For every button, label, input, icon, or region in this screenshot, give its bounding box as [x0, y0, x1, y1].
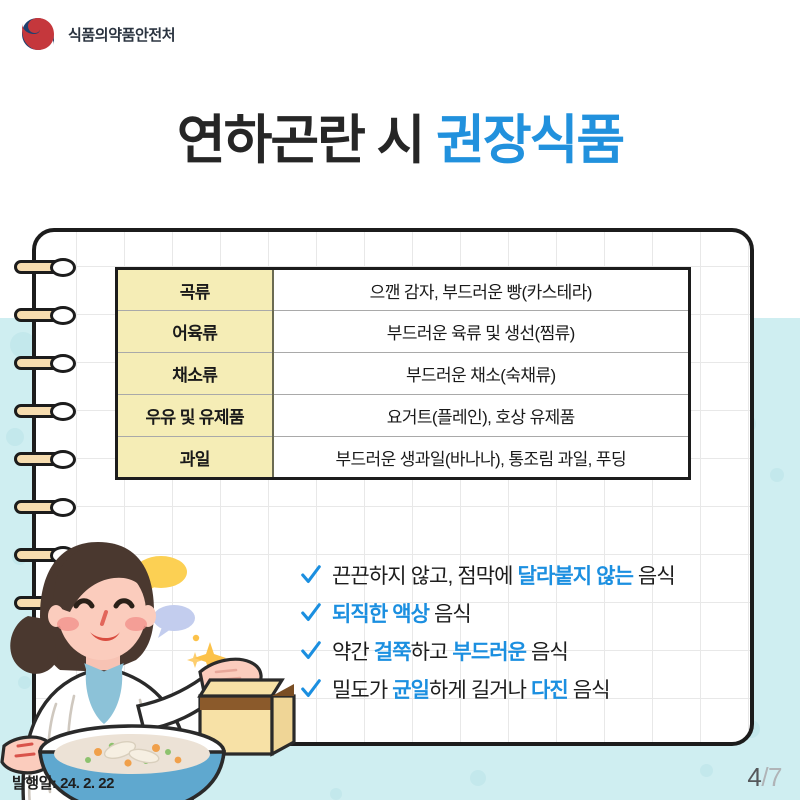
food-category-label: 어육류 [117, 311, 273, 353]
food-items-label: 으깬 감자, 부드러운 빵(카스테라) [273, 269, 690, 311]
check-icon [300, 602, 322, 624]
checklist-item-text: 끈끈하지 않고, 점막에 달라붙지 않는 음식 [332, 560, 675, 590]
agency-name-label: 식품의약품안전처 [68, 24, 175, 45]
table-row: 우유 및 유제품 요거트(플레인), 호상 유제품 [117, 395, 690, 437]
food-category-label: 곡류 [117, 269, 273, 311]
food-items-label: 부드러운 육류 및 생선(찜류) [273, 311, 690, 353]
checklist-item-text: 약간 걸쭉하고 부드러운 음식 [332, 636, 568, 666]
check-icon [300, 564, 322, 586]
food-category-label: 우유 및 유제품 [117, 395, 273, 437]
checklist: 끈끈하지 않고, 점막에 달라붙지 않는 음식 되직한 액상 음식 약간 걸쭉하… [300, 556, 720, 708]
page-title: 연하곤란 시 권장식품 [0, 98, 800, 174]
food-items-label: 부드러운 생과일(바나나), 통조림 과일, 푸딩 [273, 437, 690, 479]
page-total-label: /7 [761, 762, 782, 792]
food-items-label: 요거트(플레인), 호상 유제품 [273, 395, 690, 437]
infographic-page: 식품의약품안전처 연하곤란 시 권장식품 곡류 으깬 감자, 부드러운 빵(카스… [0, 0, 800, 800]
food-category-label: 과일 [117, 437, 273, 479]
list-item: 끈끈하지 않고, 점막에 달라붙지 않는 음식 [300, 556, 720, 594]
table-body: 곡류 으깬 감자, 부드러운 빵(카스테라) 어육류 부드러운 육류 및 생선(… [117, 269, 690, 479]
title-blue-part: 권장식품 [436, 111, 623, 170]
check-icon [300, 678, 322, 700]
table-row: 어육류 부드러운 육류 및 생선(찜류) [117, 311, 690, 353]
checklist-item-text: 밀도가 균일하게 길거나 다진 음식 [332, 674, 610, 704]
list-item: 되직한 액상 음식 [300, 594, 720, 632]
agency-logo: 식품의약품안전처 [18, 14, 175, 54]
food-items-label: 부드러운 채소(숙채류) [273, 353, 690, 395]
page-indicator: 4/7 [747, 762, 782, 793]
food-category-label: 채소류 [117, 353, 273, 395]
korea-government-taegeuk-icon [18, 14, 58, 54]
list-item: 밀도가 균일하게 길거나 다진 음식 [300, 670, 720, 708]
page-current-label: 4 [747, 762, 761, 792]
check-icon [300, 640, 322, 662]
title-dark-part: 연하곤란 시 [177, 111, 436, 170]
recommended-food-table: 곡류 으깬 감자, 부드러운 빵(카스테라) 어육류 부드러운 육류 및 생선(… [115, 267, 691, 480]
dietitian-with-porridge-and-cake-illustration [0, 520, 318, 800]
checklist-item-text: 되직한 액상 음식 [332, 598, 471, 628]
speech-bubble-blue [153, 605, 195, 638]
publish-date-label: 발행일: 24. 2. 22 [12, 772, 114, 793]
table-row: 채소류 부드러운 채소(숙채류) [117, 353, 690, 395]
table-row: 과일 부드러운 생과일(바나나), 통조림 과일, 푸딩 [117, 437, 690, 479]
list-item: 약간 걸쭉하고 부드러운 음식 [300, 632, 720, 670]
table-row: 곡류 으깬 감자, 부드러운 빵(카스테라) [117, 269, 690, 311]
